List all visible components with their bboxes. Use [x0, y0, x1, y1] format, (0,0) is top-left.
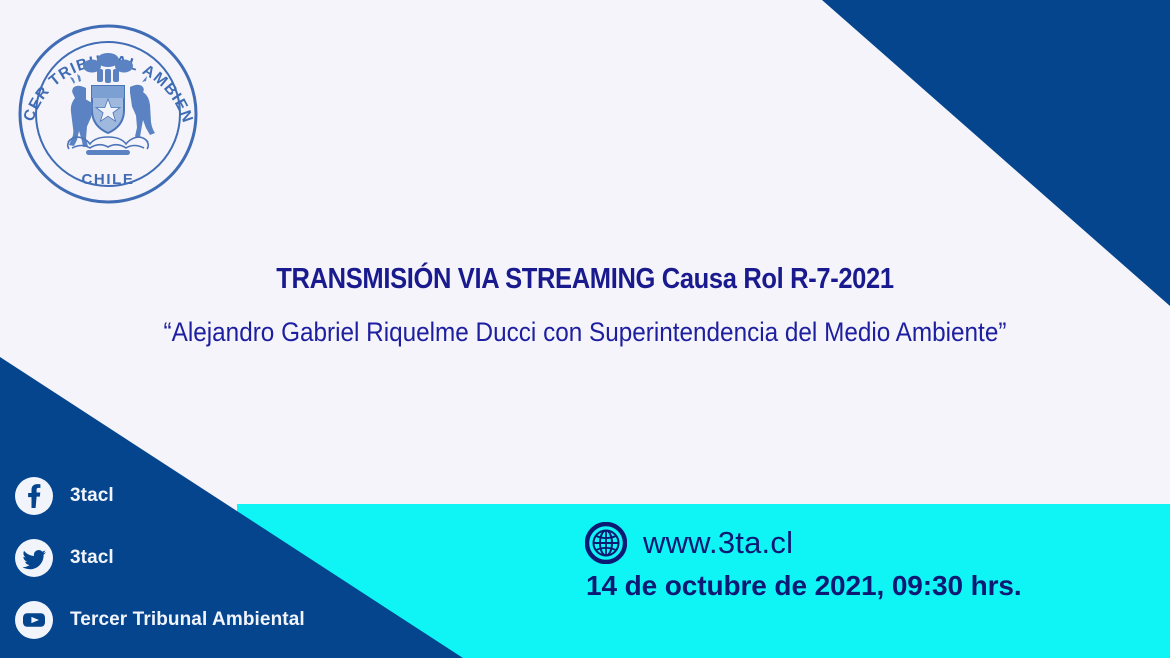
social-label-twitter: 3tacl	[70, 547, 114, 569]
website-row[interactable]: www.3ta.cl	[585, 522, 1125, 564]
seal-bottom-text: CHILE	[82, 171, 135, 188]
youtube-icon[interactable]	[14, 600, 54, 640]
web-info-block: www.3ta.cl 14 de octubre de 2021, 09:30 …	[585, 522, 1125, 602]
event-datetime: 14 de octubre de 2021, 09:30 hrs.	[586, 570, 1125, 602]
twitter-icon[interactable]	[14, 538, 54, 578]
social-links-list: 3tacl 3tacl Tercer Tribunal Ambiental	[14, 474, 434, 658]
ribbon-base	[68, 137, 149, 149]
social-label-facebook: 3tacl	[70, 485, 114, 507]
social-link-youtube[interactable]: Tercer Tribunal Ambiental	[14, 598, 434, 642]
condor-supporter	[130, 76, 155, 137]
social-link-twitter[interactable]: 3tacl	[14, 536, 434, 580]
tribunal-seal-logo: TERCER TRIBUNAL AMBIENTAL CHILE	[8, 14, 208, 214]
social-link-facebook[interactable]: 3tacl	[14, 474, 434, 518]
website-url[interactable]: www.3ta.cl	[643, 525, 793, 561]
streaming-announcement-poster: TERCER TRIBUNAL AMBIENTAL CHILE	[0, 0, 1170, 658]
globe-icon[interactable]	[585, 522, 627, 564]
social-label-youtube: Tercer Tribunal Ambiental	[70, 609, 305, 631]
huemul-supporter	[69, 74, 93, 147]
facebook-icon[interactable]	[14, 476, 54, 516]
